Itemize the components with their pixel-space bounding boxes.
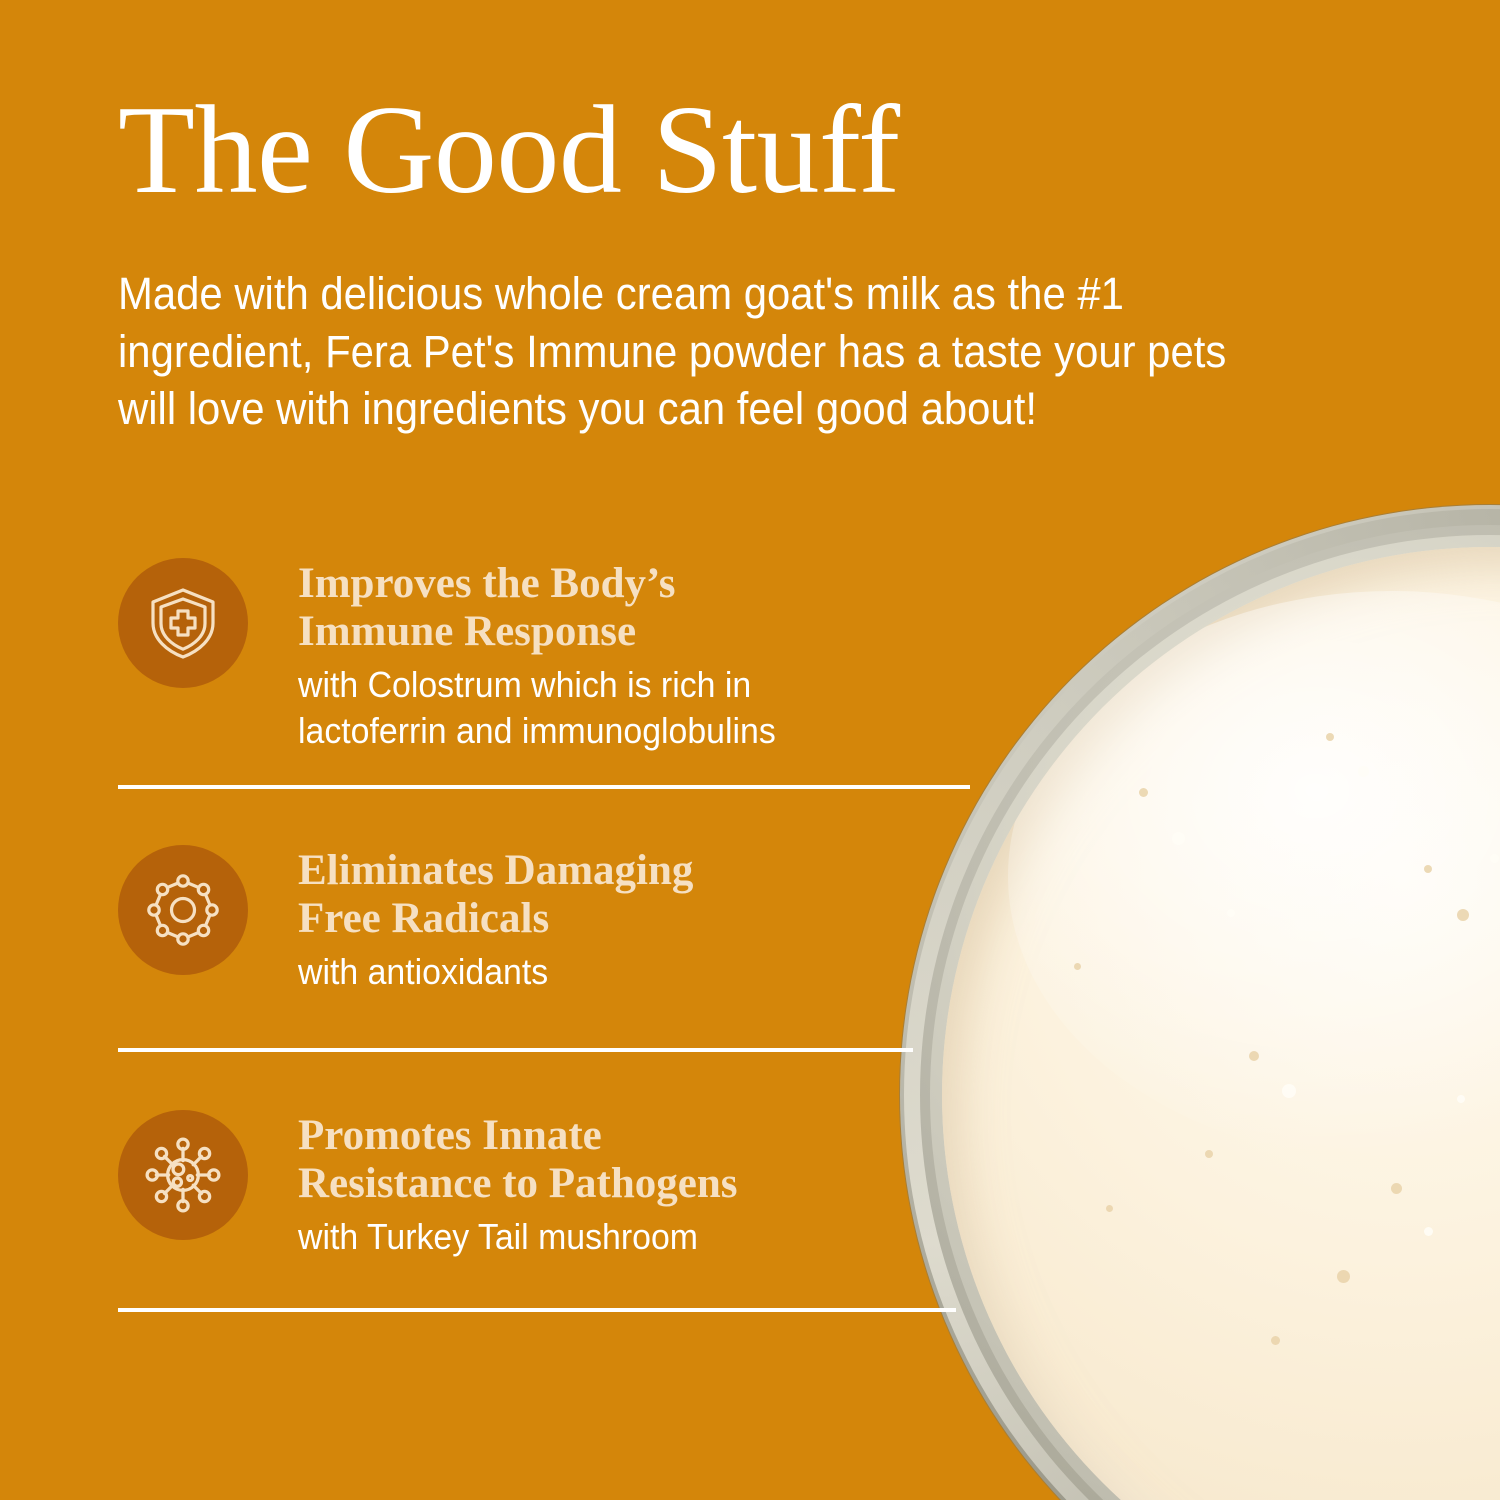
benefit-text-block: Promotes Innate Resistance to Pathogens … — [298, 1110, 738, 1260]
benefit-row-pathogen-resistance: Promotes Innate Resistance to Pathogens … — [118, 1110, 738, 1260]
product-jar-image — [900, 505, 1500, 1500]
benefit-heading: Improves the Body’s Immune Response — [298, 560, 806, 656]
benefit-row-immune-response: Improves the Body’s Immune Response with… — [118, 558, 806, 754]
pathogen-virus-icon — [118, 1110, 248, 1240]
infographic-canvas: The Good Stuff Made with delicious whole… — [0, 0, 1500, 1500]
benefit-row-free-radicals: Eliminates Damaging Free Radicals with a… — [118, 845, 693, 995]
benefit-heading: Eliminates Damaging Free Radicals — [298, 847, 693, 943]
divider-3 — [118, 1308, 956, 1312]
powder-sheen — [1008, 591, 1500, 1161]
intro-paragraph: Made with delicious whole cream goat's m… — [118, 265, 1234, 438]
benefit-text-block: Eliminates Damaging Free Radicals with a… — [298, 845, 693, 995]
shield-cross-icon — [118, 558, 248, 688]
benefit-subtext: with Colostrum which is rich in lactofer… — [298, 662, 776, 754]
benefit-subtext: with antioxidants — [298, 949, 670, 995]
jar-rim-inner — [920, 525, 1500, 1500]
page-title: The Good Stuff — [118, 88, 900, 214]
benefit-text-block: Improves the Body’s Immune Response with… — [298, 558, 806, 754]
divider-2 — [118, 1048, 913, 1052]
divider-1 — [118, 785, 970, 789]
benefit-subtext: with Turkey Tail mushroom — [298, 1214, 711, 1260]
jar-rim-shadow — [930, 535, 1500, 1500]
molecule-ring-icon — [118, 845, 248, 975]
jar-powder-surface — [942, 547, 1500, 1500]
jar-rim-highlight — [904, 509, 1500, 1500]
jar-outer-rim — [900, 505, 1500, 1500]
benefit-heading: Promotes Innate Resistance to Pathogens — [298, 1112, 738, 1208]
